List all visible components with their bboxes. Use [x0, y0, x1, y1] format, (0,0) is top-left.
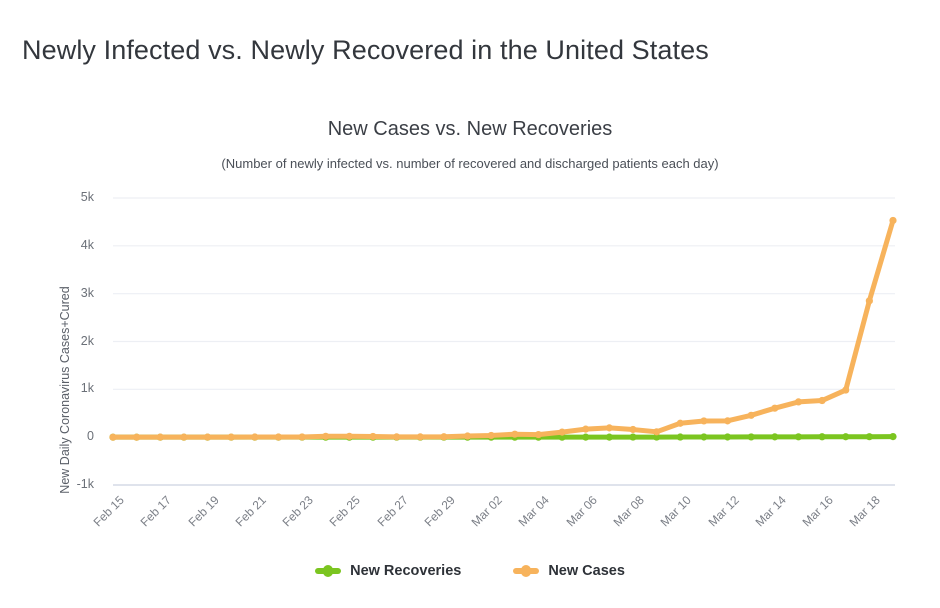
data-point[interactable]	[535, 431, 542, 438]
data-point[interactable]	[677, 433, 684, 440]
data-point[interactable]	[180, 434, 187, 441]
y-tick-label: 1k	[48, 382, 94, 394]
data-point[interactable]	[369, 433, 376, 440]
legend-item-new-cases[interactable]: New Cases	[513, 563, 625, 579]
data-point[interactable]	[629, 426, 636, 433]
data-point[interactable]	[677, 420, 684, 427]
data-point[interactable]	[606, 434, 613, 441]
data-point[interactable]	[464, 432, 471, 439]
data-point[interactable]	[889, 433, 896, 440]
data-point[interactable]	[700, 433, 707, 440]
data-point[interactable]	[275, 433, 282, 440]
data-point[interactable]	[511, 431, 518, 438]
y-tick-label: 0	[48, 430, 94, 442]
page-title: Newly Infected vs. Newly Recovered in th…	[22, 35, 709, 66]
data-point[interactable]	[818, 433, 825, 440]
y-tick-label: 4k	[48, 239, 94, 251]
y-tick-label: -1k	[48, 478, 94, 490]
data-point[interactable]	[771, 405, 778, 412]
data-point[interactable]	[157, 434, 164, 441]
data-point[interactable]	[228, 433, 235, 440]
chart-legend: New RecoveriesNew Cases	[0, 563, 940, 579]
data-point[interactable]	[700, 417, 707, 424]
plot-area: New Daily Coronavirus Cases+Cured 5k4k3k…	[0, 100, 940, 608]
legend-swatch-icon	[315, 568, 341, 574]
data-point[interactable]	[558, 429, 565, 436]
y-tick-label: 2k	[48, 335, 94, 347]
data-point[interactable]	[393, 433, 400, 440]
data-point[interactable]	[889, 217, 896, 224]
data-point[interactable]	[298, 433, 305, 440]
data-point[interactable]	[795, 398, 802, 405]
data-point[interactable]	[842, 433, 849, 440]
legend-label: New Recoveries	[350, 563, 461, 579]
series-line-new-cases	[113, 220, 893, 437]
data-point[interactable]	[842, 386, 849, 393]
data-point[interactable]	[818, 397, 825, 404]
data-point[interactable]	[724, 433, 731, 440]
data-point[interactable]	[582, 434, 589, 441]
data-point[interactable]	[582, 426, 589, 433]
data-point[interactable]	[748, 433, 755, 440]
data-point[interactable]	[251, 433, 258, 440]
legend-item-new-recoveries[interactable]: New Recoveries	[315, 563, 461, 579]
y-tick-label: 5k	[48, 191, 94, 203]
data-point[interactable]	[866, 433, 873, 440]
data-point[interactable]	[795, 433, 802, 440]
data-point[interactable]	[724, 417, 731, 424]
data-point[interactable]	[488, 432, 495, 439]
data-point[interactable]	[417, 433, 424, 440]
data-point[interactable]	[629, 433, 636, 440]
data-point[interactable]	[606, 424, 613, 431]
legend-label: New Cases	[548, 563, 625, 579]
data-point[interactable]	[653, 428, 660, 435]
data-point[interactable]	[748, 412, 755, 419]
data-point[interactable]	[133, 434, 140, 441]
data-point[interactable]	[440, 433, 447, 440]
chart-container: New Cases vs. New Recoveries (Number of …	[0, 100, 940, 608]
data-point[interactable]	[109, 434, 116, 441]
legend-swatch-icon	[513, 568, 539, 574]
data-point[interactable]	[322, 433, 329, 440]
data-point[interactable]	[771, 433, 778, 440]
data-point[interactable]	[866, 297, 873, 304]
data-point[interactable]	[204, 433, 211, 440]
data-point[interactable]	[346, 433, 353, 440]
y-tick-label: 3k	[48, 287, 94, 299]
